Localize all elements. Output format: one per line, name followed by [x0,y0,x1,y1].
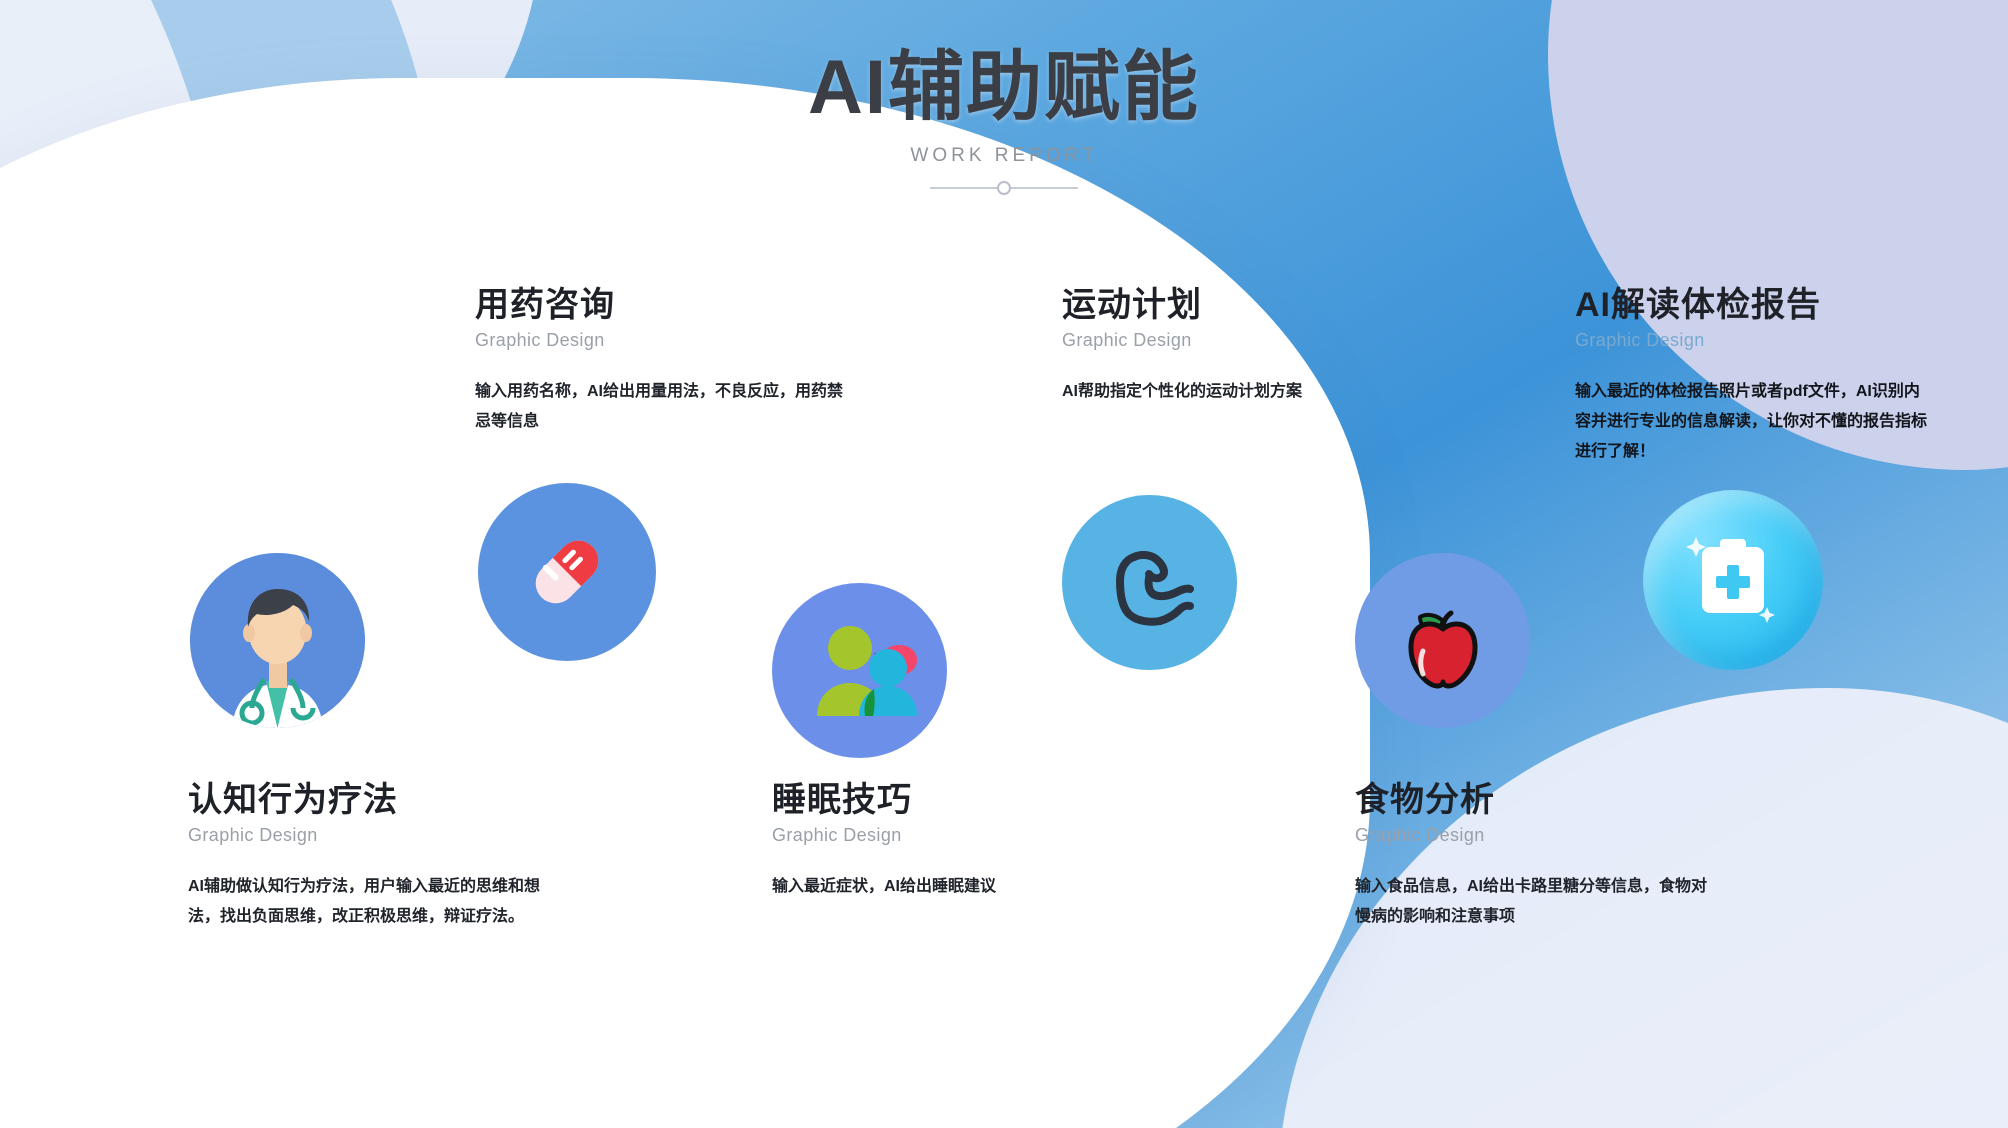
feature-desc-sleep: 输入最近症状，AI给出睡眠建议 [772,872,1112,902]
feature-subtitle-sport: Graphic Design [1062,330,1392,351]
feature-block-medication[interactable]: 用药咨询 Graphic Design 输入用药名称，AI给出用量用法，不良反应… [475,287,845,437]
pill-icon[interactable] [478,483,656,661]
divider-dot [997,181,1011,195]
people-chat-icon[interactable] [772,583,947,758]
medical-clipboard-icon[interactable] [1643,490,1823,670]
feature-block-report[interactable]: AI解读体检报告 Graphic Design 输入最近的体检报告照片或者pdf… [1575,287,1935,466]
page-subtitle: WORK REPORT [0,145,2008,167]
feature-subtitle-report: Graphic Design [1575,330,1935,351]
feature-desc-food: 输入食品信息，AI给出卡路里糖分等信息，食物对慢病的影响和注意事项 [1355,872,1715,931]
slide-canvas: AI辅助赋能 WORK REPORT 用药咨询 Graphic Design 输… [0,0,2008,1128]
feature-desc-sport: AI帮助指定个性化的运动计划方案 [1062,377,1392,407]
feature-title-sleep: 睡眠技巧 [772,782,1112,819]
feature-block-sleep[interactable]: 睡眠技巧 Graphic Design 输入最近症状，AI给出睡眠建议 [772,782,1112,902]
feature-subtitle-cbt: Graphic Design [188,825,548,846]
feature-desc-cbt: AI辅助做认知行为疗法，用户输入最近的思维和想法，找出负面思维，改正积极思维，辩… [188,872,548,931]
feature-title-report: AI解读体检报告 [1575,287,1935,324]
page-title: AI辅助赋能 [0,44,2008,131]
feature-title-cbt: 认知行为疗法 [188,782,548,819]
header-divider [930,181,1078,195]
feature-subtitle-sleep: Graphic Design [772,825,1112,846]
feature-desc-report: 输入最近的体检报告照片或者pdf文件，AI识别内容并进行专业的信息解读，让你对不… [1575,377,1935,466]
white-content-shape-lower [0,330,800,1128]
muscle-icon[interactable] [1062,495,1237,670]
feature-subtitle-food: Graphic Design [1355,825,1715,846]
feature-block-food[interactable]: 食物分析 Graphic Design 输入食品信息，AI给出卡路里糖分等信息，… [1355,782,1715,932]
feature-block-cbt[interactable]: 认知行为疗法 Graphic Design AI辅助做认知行为疗法，用户输入最近… [188,782,548,932]
apple-icon[interactable] [1355,553,1530,728]
feature-block-sport[interactable]: 运动计划 Graphic Design AI帮助指定个性化的运动计划方案 [1062,287,1392,407]
feature-title-sport: 运动计划 [1062,287,1392,324]
feature-title-food: 食物分析 [1355,782,1715,819]
feature-desc-medication: 输入用药名称，AI给出用量用法，不良反应，用药禁忌等信息 [475,377,845,436]
feature-title-medication: 用药咨询 [475,287,845,324]
feature-subtitle-medication: Graphic Design [475,330,845,351]
slide-header: AI辅助赋能 WORK REPORT [0,44,2008,195]
doctor-icon[interactable] [190,553,365,728]
